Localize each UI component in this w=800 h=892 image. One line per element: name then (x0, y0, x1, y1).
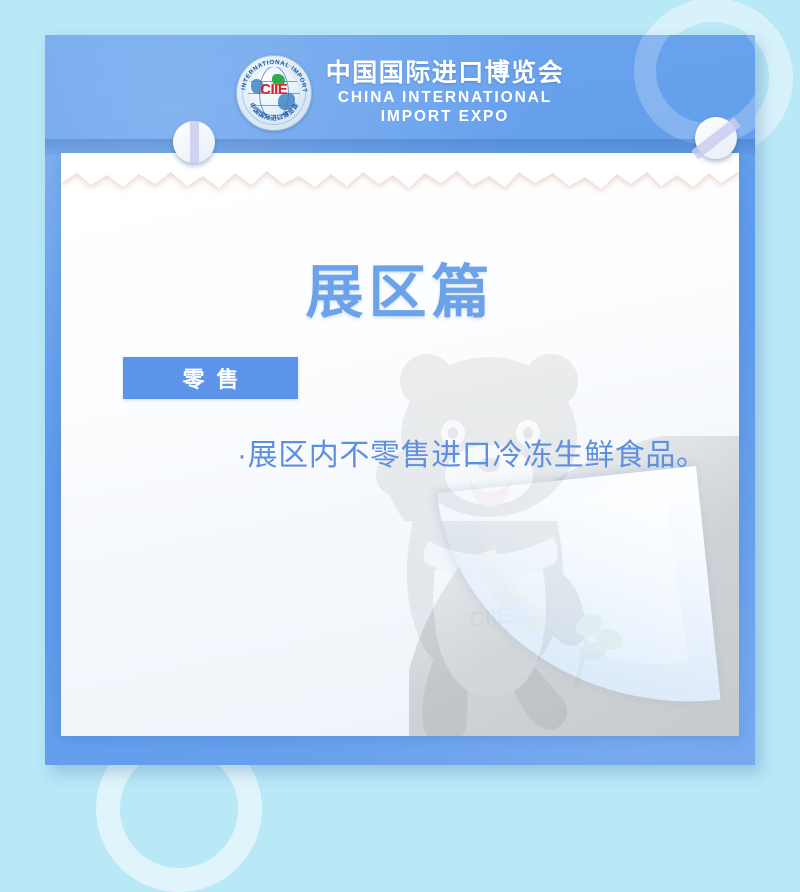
page-title: 展区篇 (61, 245, 739, 329)
header-title-en-line2: IMPORT EXPO (326, 109, 565, 125)
header-title-en-line1: CHINA INTERNATIONAL (326, 90, 565, 106)
ciie-globe-logo-icon: CIIE CHINA INTERNATIONAL IMPORT EXPO 中国国… (236, 55, 312, 131)
binder-ring-right-icon (695, 117, 737, 159)
header-title-cn: 中国国际进口博览会 (326, 60, 565, 87)
sheet-content: 展区篇 零售 ·展区内不零售进口冷冻生鲜食品。 (61, 153, 739, 736)
rule-body-text: ·展区内不零售进口冷冻生鲜食品。 (237, 433, 715, 479)
logo-circular-text: CHINA INTERNATIONAL IMPORT EXPO 中国国际进口博览… (236, 55, 312, 131)
binder-ring-left-icon (173, 121, 215, 163)
paper-sheet: CIIE (61, 153, 739, 736)
svg-text:中国国际进口博览会: 中国国际进口博览会 (247, 101, 300, 122)
poster-card: CIIE CHINA INTERNATIONAL IMPORT EXPO 中国国… (45, 35, 755, 765)
header-bar: CIIE CHINA INTERNATIONAL IMPORT EXPO 中国国… (45, 35, 755, 150)
header-title-group: 中国国际进口博览会 CHINA INTERNATIONAL IMPORT EXP… (326, 60, 565, 125)
section-badge-retail: 零售 (123, 357, 298, 399)
svg-text:CHINA INTERNATIONAL IMPORT EXP: CHINA INTERNATIONAL IMPORT EXPO (236, 55, 308, 93)
